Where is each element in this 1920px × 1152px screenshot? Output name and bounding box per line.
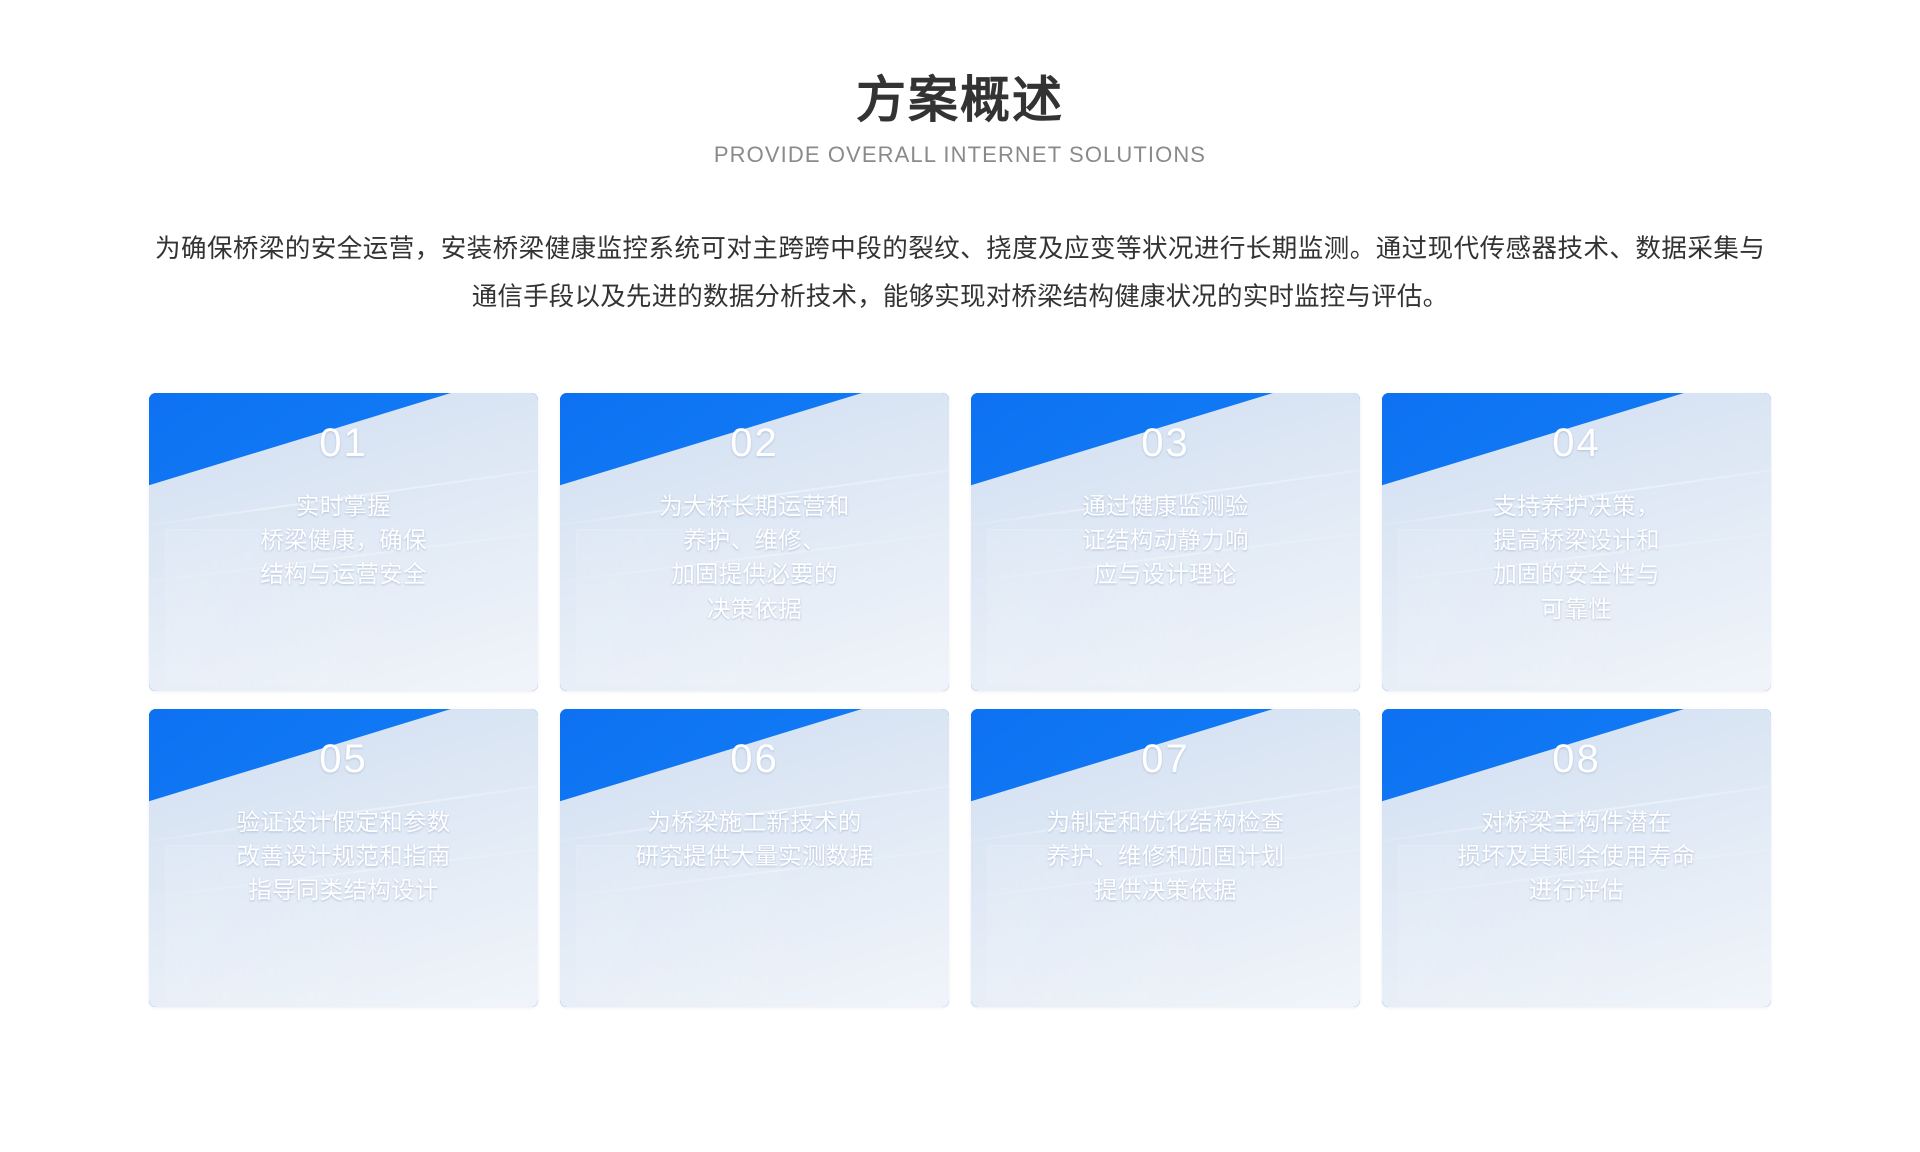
benefit-card[interactable]: 08 对桥梁主构件潜在 损坏及其剩余使用寿命 进行评估 bbox=[1382, 709, 1771, 1007]
card-description: 通过健康监测验 证结构动静力响 应与设计理论 bbox=[1070, 489, 1261, 592]
intro-paragraph: 为确保桥梁的安全运营，安装桥梁健康监控系统可对主跨跨中段的裂纹、挠度及应变等状况… bbox=[155, 226, 1765, 320]
benefit-card[interactable]: 03 通过健康监测验 证结构动静力响 应与设计理论 bbox=[971, 393, 1360, 691]
benefit-card[interactable]: 06 为桥梁施工新技术的 研究提供大量实测数据 bbox=[560, 709, 949, 1007]
card-description: 为大桥长期运营和 养护、维修、 加固提供必要的 决策依据 bbox=[647, 489, 861, 626]
card-number: 04 bbox=[1552, 423, 1601, 463]
card-number: 08 bbox=[1552, 739, 1601, 779]
benefit-card[interactable]: 04 支持养护决策， 提高桥梁设计和 加固的安全性与 可靠性 bbox=[1382, 393, 1771, 691]
card-number: 02 bbox=[730, 423, 779, 463]
benefit-card[interactable]: 05 验证设计假定和参数 改善设计规范和指南 指导同类结构设计 bbox=[149, 709, 538, 1007]
benefit-card-grid: 01 实时掌握 桥梁健康，确保 结构与运营安全 02 为大桥长期运营和 养护、维… bbox=[149, 393, 1771, 1007]
card-description: 为桥梁施工新技术的 研究提供大量实测数据 bbox=[624, 805, 886, 874]
card-number: 01 bbox=[319, 423, 368, 463]
page-subtitle: PROVIDE OVERALL INTERNET SOLUTIONS bbox=[0, 142, 1920, 168]
page-header: 方案概述 PROVIDE OVERALL INTERNET SOLUTIONS bbox=[0, 0, 1920, 168]
card-number: 03 bbox=[1141, 423, 1190, 463]
card-description: 为制定和优化结构检查 养护、维修和加固计划 提供决策依据 bbox=[1035, 805, 1297, 908]
card-description: 对桥梁主构件潜在 损坏及其剩余使用寿命 进行评估 bbox=[1446, 805, 1708, 908]
card-description: 验证设计假定和参数 改善设计规范和指南 指导同类结构设计 bbox=[224, 805, 462, 908]
intro-section: 为确保桥梁的安全运营，安装桥梁健康监控系统可对主跨跨中段的裂纹、挠度及应变等状况… bbox=[155, 226, 1765, 320]
card-description: 实时掌握 桥梁健康，确保 结构与运营安全 bbox=[248, 489, 439, 592]
card-description: 支持养护决策， 提高桥梁设计和 加固的安全性与 可靠性 bbox=[1481, 489, 1672, 626]
card-number: 07 bbox=[1141, 739, 1190, 779]
card-number: 05 bbox=[319, 739, 368, 779]
benefit-card[interactable]: 02 为大桥长期运营和 养护、维修、 加固提供必要的 决策依据 bbox=[560, 393, 949, 691]
card-number: 06 bbox=[730, 739, 779, 779]
page-title: 方案概述 bbox=[0, 72, 1920, 128]
benefit-card[interactable]: 01 实时掌握 桥梁健康，确保 结构与运营安全 bbox=[149, 393, 538, 691]
benefit-card[interactable]: 07 为制定和优化结构检查 养护、维修和加固计划 提供决策依据 bbox=[971, 709, 1360, 1007]
